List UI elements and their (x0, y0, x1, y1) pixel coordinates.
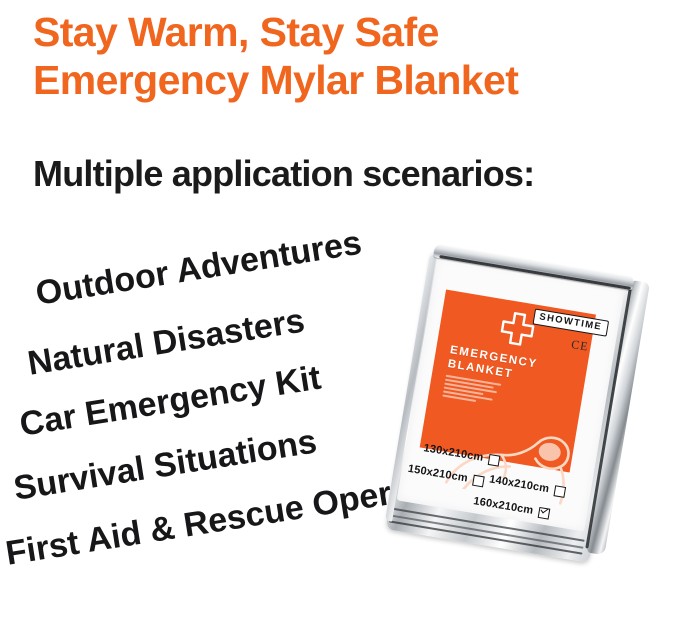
size-checkbox[interactable] (487, 453, 500, 466)
size-checkbox[interactable] (472, 474, 485, 487)
subheading: Multiple application scenarios: (33, 153, 534, 195)
size-checkbox-checked[interactable] (537, 506, 550, 519)
medical-cross-icon (498, 309, 537, 348)
headline-line-2: Emergency Mylar Blanket (33, 56, 673, 104)
headline-line-1: Stay Warm, Stay Safe (33, 9, 439, 55)
page-title: Stay Warm, Stay Safe Emergency Mylar Bla… (33, 8, 673, 104)
size-option-label: 150x210cm (407, 463, 469, 485)
size-option-150x210[interactable]: 150x210cm (407, 463, 484, 487)
size-option-140x210[interactable]: 140x210cm (488, 473, 565, 497)
ce-mark: CE (570, 337, 590, 355)
package-front-face: SHOWTIME CE EMERGENCY BLANKET 130x210cm … (397, 256, 625, 532)
infographic-canvas: Stay Warm, Stay Safe Emergency Mylar Bla… (0, 0, 679, 626)
scenario-item-outdoor-adventures: Outdoor Adventures (33, 224, 364, 313)
size-option-label: 160x210cm (473, 495, 535, 517)
size-checkbox[interactable] (553, 485, 566, 498)
product-package: SHOWTIME CE EMERGENCY BLANKET 130x210cm … (381, 238, 655, 572)
size-option-label: 140x210cm (488, 473, 550, 495)
